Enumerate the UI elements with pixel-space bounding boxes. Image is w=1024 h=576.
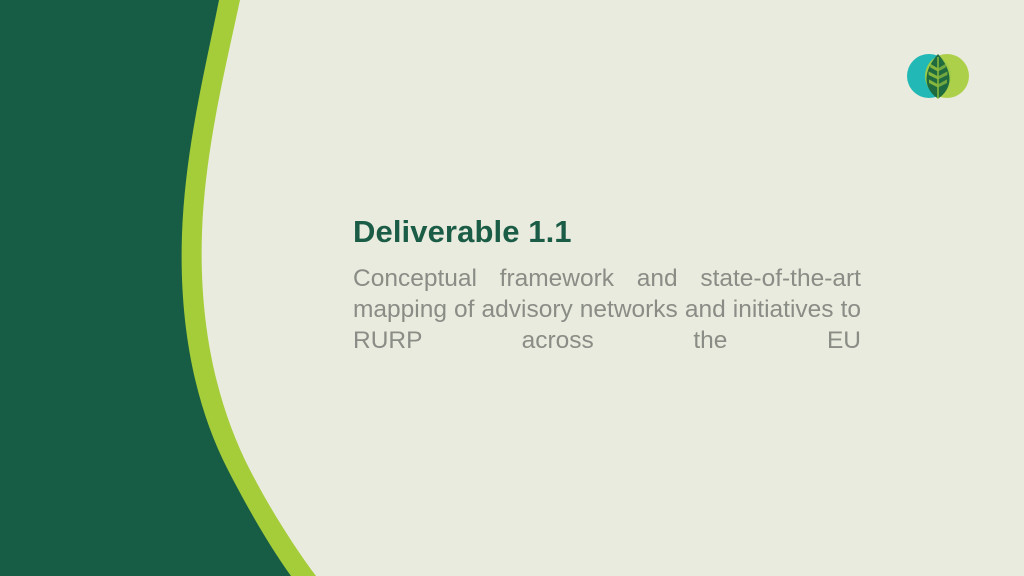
slide-canvas: Deliverable 1.1 Conceptual framework and…: [0, 0, 1024, 576]
page-subtitle: Conceptual framework and state-of-the-ar…: [353, 252, 861, 387]
page-title: Deliverable 1.1: [353, 212, 861, 252]
slide-text-block: Deliverable 1.1 Conceptual framework and…: [353, 212, 861, 387]
leaf-circles-logo: [906, 51, 970, 101]
